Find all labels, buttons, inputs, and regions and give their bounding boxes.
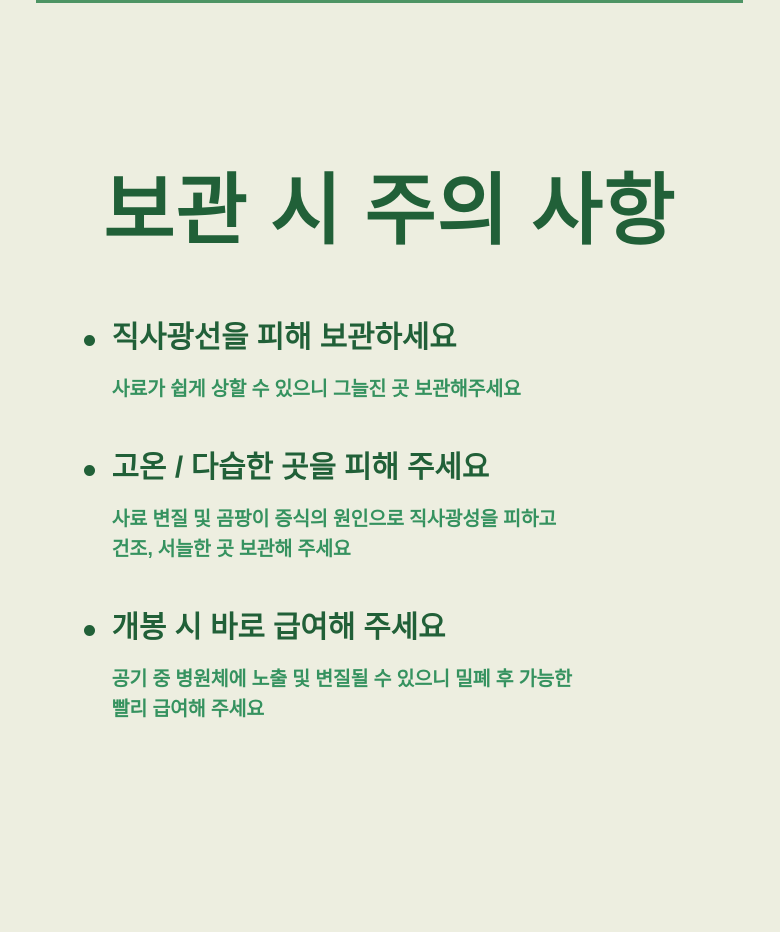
notice-description-line: 건조, 서늘한 곳 보관해 주세요 [112, 534, 780, 564]
list-item: 직사광선을 피해 보관하세요 사료가 쉽게 상할 수 있으니 그늘진 곳 보관해… [0, 318, 780, 404]
bullet-dot-icon [84, 465, 95, 476]
storage-notice-page: 보관 시 주의 사항 직사광선을 피해 보관하세요 사료가 쉽게 상할 수 있으… [0, 0, 780, 932]
notice-description-line: 빨리 급여해 주세요 [112, 694, 780, 724]
bullet-dot-icon [84, 335, 95, 346]
top-divider [0, 0, 780, 4]
list-item: 개봉 시 바로 급여해 주세요 공기 중 병원체에 노출 및 변질될 수 있으니… [0, 608, 780, 724]
bullet-dot-icon [84, 625, 95, 636]
notice-description: 사료 변질 및 곰팡이 증식의 원인으로 직사광성을 피하고 건조, 서늘한 곳… [0, 504, 780, 564]
notice-description-line: 공기 중 병원체에 노출 및 변질될 수 있으니 밀폐 후 가능한 [112, 664, 780, 694]
notice-description-line: 사료가 쉽게 상할 수 있으니 그늘진 곳 보관해주세요 [112, 374, 780, 404]
list-item: 고온 / 다습한 곳을 피해 주세요 사료 변질 및 곰팡이 증식의 원인으로 … [0, 448, 780, 564]
top-rule-line [36, 0, 743, 3]
notice-description-line: 사료 변질 및 곰팡이 증식의 원인으로 직사광성을 피하고 [112, 504, 780, 534]
notice-heading-row: 직사광선을 피해 보관하세요 [0, 318, 780, 358]
notice-heading: 고온 / 다습한 곳을 피해 주세요 [112, 448, 780, 488]
page-title: 보관 시 주의 사항 [0, 168, 780, 254]
notice-heading-row: 고온 / 다습한 곳을 피해 주세요 [0, 448, 780, 488]
notice-list: 직사광선을 피해 보관하세요 사료가 쉽게 상할 수 있으니 그늘진 곳 보관해… [0, 318, 780, 724]
notice-description: 사료가 쉽게 상할 수 있으니 그늘진 곳 보관해주세요 [0, 374, 780, 404]
notice-heading: 개봉 시 바로 급여해 주세요 [112, 608, 780, 648]
notice-heading-row: 개봉 시 바로 급여해 주세요 [0, 608, 780, 648]
notice-heading: 직사광선을 피해 보관하세요 [112, 318, 780, 358]
notice-description: 공기 중 병원체에 노출 및 변질될 수 있으니 밀폐 후 가능한 빨리 급여해… [0, 664, 780, 724]
